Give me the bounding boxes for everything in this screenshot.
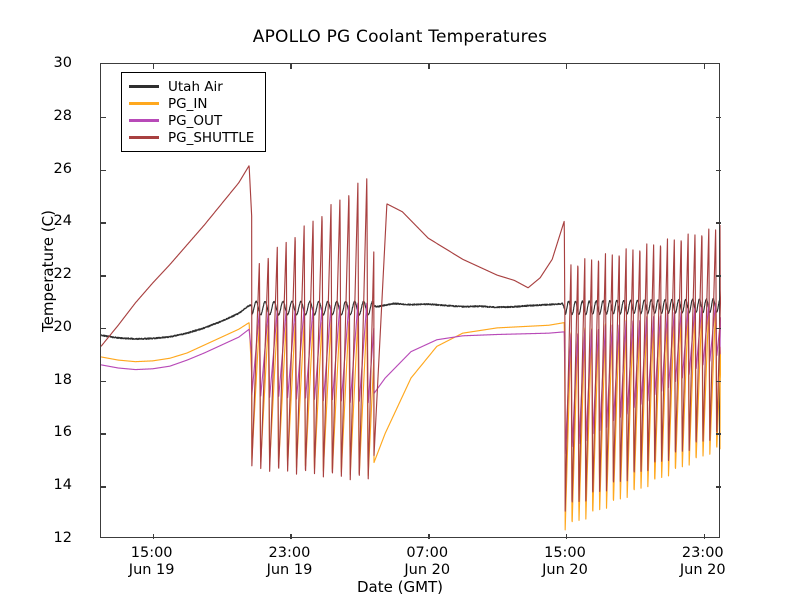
legend-item-pg-shuttle[interactable]: PG_SHUTTLE [129, 129, 254, 146]
x-tick-label-2: 07:00Jun 20 [404, 545, 450, 579]
y-tick-label-26: 26 [54, 161, 72, 177]
plot-area: Utah AirPG_INPG_OUTPG_SHUTTLE [100, 63, 720, 538]
x-tickmark [428, 64, 429, 69]
x-tick-date: Jun 19 [267, 562, 313, 579]
y-tickmark [716, 433, 721, 434]
x-tickmark [566, 534, 567, 539]
x-tick-date: Jun 20 [680, 562, 726, 579]
x-tick-time: 15:00 [129, 545, 175, 562]
x-tickmark [704, 534, 705, 539]
y-tickmark [101, 222, 106, 223]
chart-legend[interactable]: Utah AirPG_INPG_OUTPG_SHUTTLE [121, 72, 266, 152]
legend-label: Utah Air [168, 79, 223, 95]
y-tickmark [716, 328, 721, 329]
y-tick-label-16: 16 [54, 424, 72, 440]
y-tickmark [101, 275, 106, 276]
legend-item-pg-out[interactable]: PG_OUT [129, 112, 254, 129]
y-tickmark [101, 117, 106, 118]
legend-label: PG_OUT [168, 113, 222, 129]
y-tick-label-20: 20 [54, 319, 72, 335]
y-tick-label-22: 22 [54, 266, 72, 282]
y-tickmark [716, 170, 721, 171]
legend-swatch-icon [129, 102, 159, 104]
y-tickmark [716, 381, 721, 382]
x-tickmark [704, 64, 705, 69]
x-tickmark [290, 534, 291, 539]
y-tick-label-12: 12 [54, 530, 72, 546]
x-tick-label-0: 15:00Jun 19 [129, 545, 175, 579]
x-tick-date: Jun 19 [129, 562, 175, 579]
x-axis-label: Date (GMT) [0, 578, 800, 596]
x-tick-time: 23:00 [680, 545, 726, 562]
y-tickmark [716, 486, 721, 487]
series-line-pg-in [101, 305, 721, 530]
legend-swatch-icon [129, 136, 159, 138]
y-tick-label-14: 14 [54, 477, 72, 493]
x-tickmark [290, 64, 291, 69]
y-tick-label-30: 30 [54, 55, 72, 71]
y-tick-label-24: 24 [54, 213, 72, 229]
x-tick-date: Jun 20 [404, 562, 450, 579]
x-tick-date: Jun 20 [542, 562, 588, 579]
y-tickmark [101, 170, 106, 171]
x-tick-label-4: 23:00Jun 20 [680, 545, 726, 579]
series-line-pg-shuttle [101, 166, 721, 511]
x-tick-label-1: 23:00Jun 19 [267, 545, 313, 579]
legend-item-pg-in[interactable]: PG_IN [129, 95, 254, 112]
x-tickmark [153, 534, 154, 539]
legend-swatch-icon [129, 85, 159, 87]
x-tick-label-3: 15:00Jun 20 [542, 545, 588, 579]
y-tick-label-18: 18 [54, 372, 72, 388]
x-tickmark [566, 64, 567, 69]
legend-label: PG_IN [168, 96, 207, 112]
legend-label: PG_SHUTTLE [168, 130, 254, 146]
x-tick-time: 07:00 [404, 545, 450, 562]
y-tickmark [101, 486, 106, 487]
page-title: APOLLO PG Coolant Temperatures [0, 27, 800, 47]
x-tick-time: 15:00 [542, 545, 588, 562]
series-line-utah-air [101, 298, 721, 339]
legend-swatch-icon [129, 119, 159, 121]
y-tickmark [716, 117, 721, 118]
y-tickmark [101, 433, 106, 434]
x-tick-time: 23:00 [267, 545, 313, 562]
figure-canvas: APOLLO PG Coolant Temperatures Temperatu… [0, 0, 800, 600]
legend-item-utah-air[interactable]: Utah Air [129, 78, 254, 95]
y-tickmark [101, 328, 106, 329]
y-tick-label-28: 28 [54, 108, 72, 124]
x-tickmark [153, 64, 154, 69]
y-tickmark [716, 275, 721, 276]
y-tickmark [101, 381, 106, 382]
x-tickmark [428, 534, 429, 539]
y-tickmark [716, 222, 721, 223]
